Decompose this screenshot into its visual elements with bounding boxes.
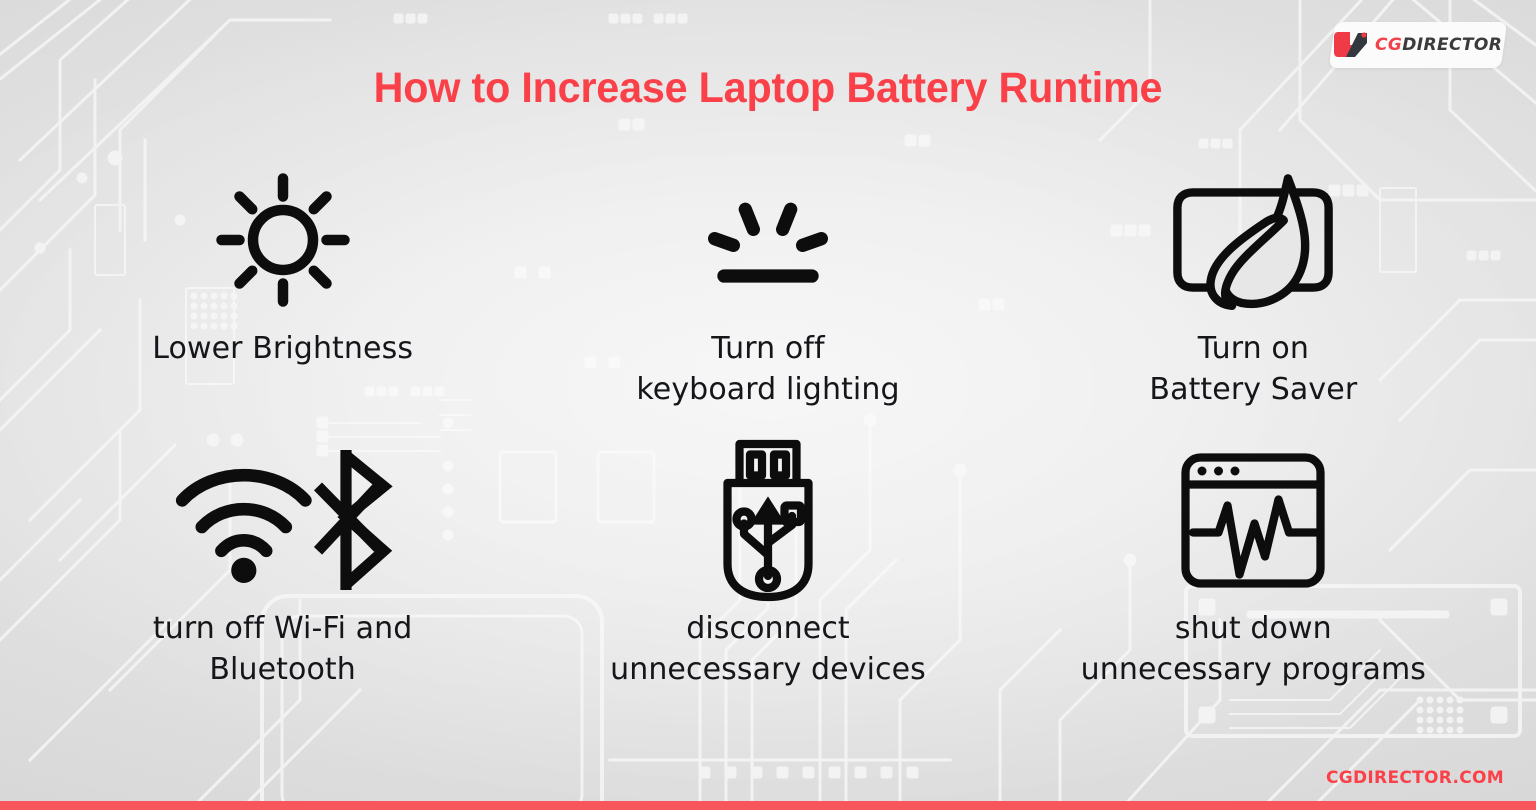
tip-card-shutdown-programs: shut down unnecessary programs <box>1011 430 1496 710</box>
cgdirector-logo-mark <box>1334 31 1368 59</box>
tip-label-line1: Lower Brightness <box>152 331 413 366</box>
usb-flash-drive-icon <box>698 440 838 600</box>
wifi-bluetooth-icon <box>168 440 398 600</box>
tip-label-line1: Turn on <box>1198 331 1309 366</box>
tip-label-keyboard-lighting: Turn off keyboard lighting <box>636 328 899 411</box>
bottom-accent-bar <box>0 801 1536 810</box>
infographic-canvas: CGDIRECTOR How to Increase Laptop Batter… <box>0 0 1536 810</box>
page-title: How to Increase Laptop Battery Runtime <box>31 64 1506 113</box>
tip-card-keyboard-lighting: Turn off keyboard lighting <box>525 150 1010 430</box>
logo-text-cg: CG <box>1375 35 1402 55</box>
brightness-sun-icon <box>208 160 358 320</box>
tip-card-lower-brightness: Lower Brightness <box>40 150 525 430</box>
tip-card-battery-saver: Turn on Battery Saver <box>1011 150 1496 430</box>
task-manager-window-icon <box>1178 440 1328 600</box>
tip-card-wifi-bluetooth: turn off Wi-Fi and Bluetooth <box>40 430 525 710</box>
tip-label-line2: Bluetooth <box>153 649 413 690</box>
tip-label-line1: Turn off <box>711 331 824 366</box>
footer-url[interactable]: CGDIRECTOR.COM <box>1326 768 1504 788</box>
tip-label-line2: unnecessary devices <box>610 649 926 690</box>
tip-label-line1: shut down <box>1175 611 1332 646</box>
keyboard-backlight-icon <box>688 160 848 320</box>
logo-text-director: DIRECTOR <box>1402 35 1502 55</box>
tip-label-line1: turn off Wi-Fi and <box>153 611 413 646</box>
tip-label-line2: Battery Saver <box>1149 369 1357 410</box>
tip-label-battery-saver: Turn on Battery Saver <box>1149 328 1357 411</box>
tip-card-disconnect-devices: disconnect unnecessary devices <box>525 430 1010 710</box>
tip-label-disconnect-devices: disconnect unnecessary devices <box>610 608 926 691</box>
cgdirector-logo[interactable]: CGDIRECTOR <box>1329 22 1507 68</box>
tip-label-shutdown-programs: shut down unnecessary programs <box>1081 608 1426 691</box>
tip-label-line2: keyboard lighting <box>636 369 899 410</box>
tip-label-line2: unnecessary programs <box>1081 649 1426 690</box>
tip-label-wifi-bluetooth: turn off Wi-Fi and Bluetooth <box>153 608 413 691</box>
tips-grid: Lower Brightness Turn off keyboard <box>40 150 1496 710</box>
tip-label-lower-brightness: Lower Brightness <box>152 328 413 369</box>
battery-saver-leaf-icon <box>1153 160 1353 320</box>
tip-label-line1: disconnect <box>686 611 850 646</box>
